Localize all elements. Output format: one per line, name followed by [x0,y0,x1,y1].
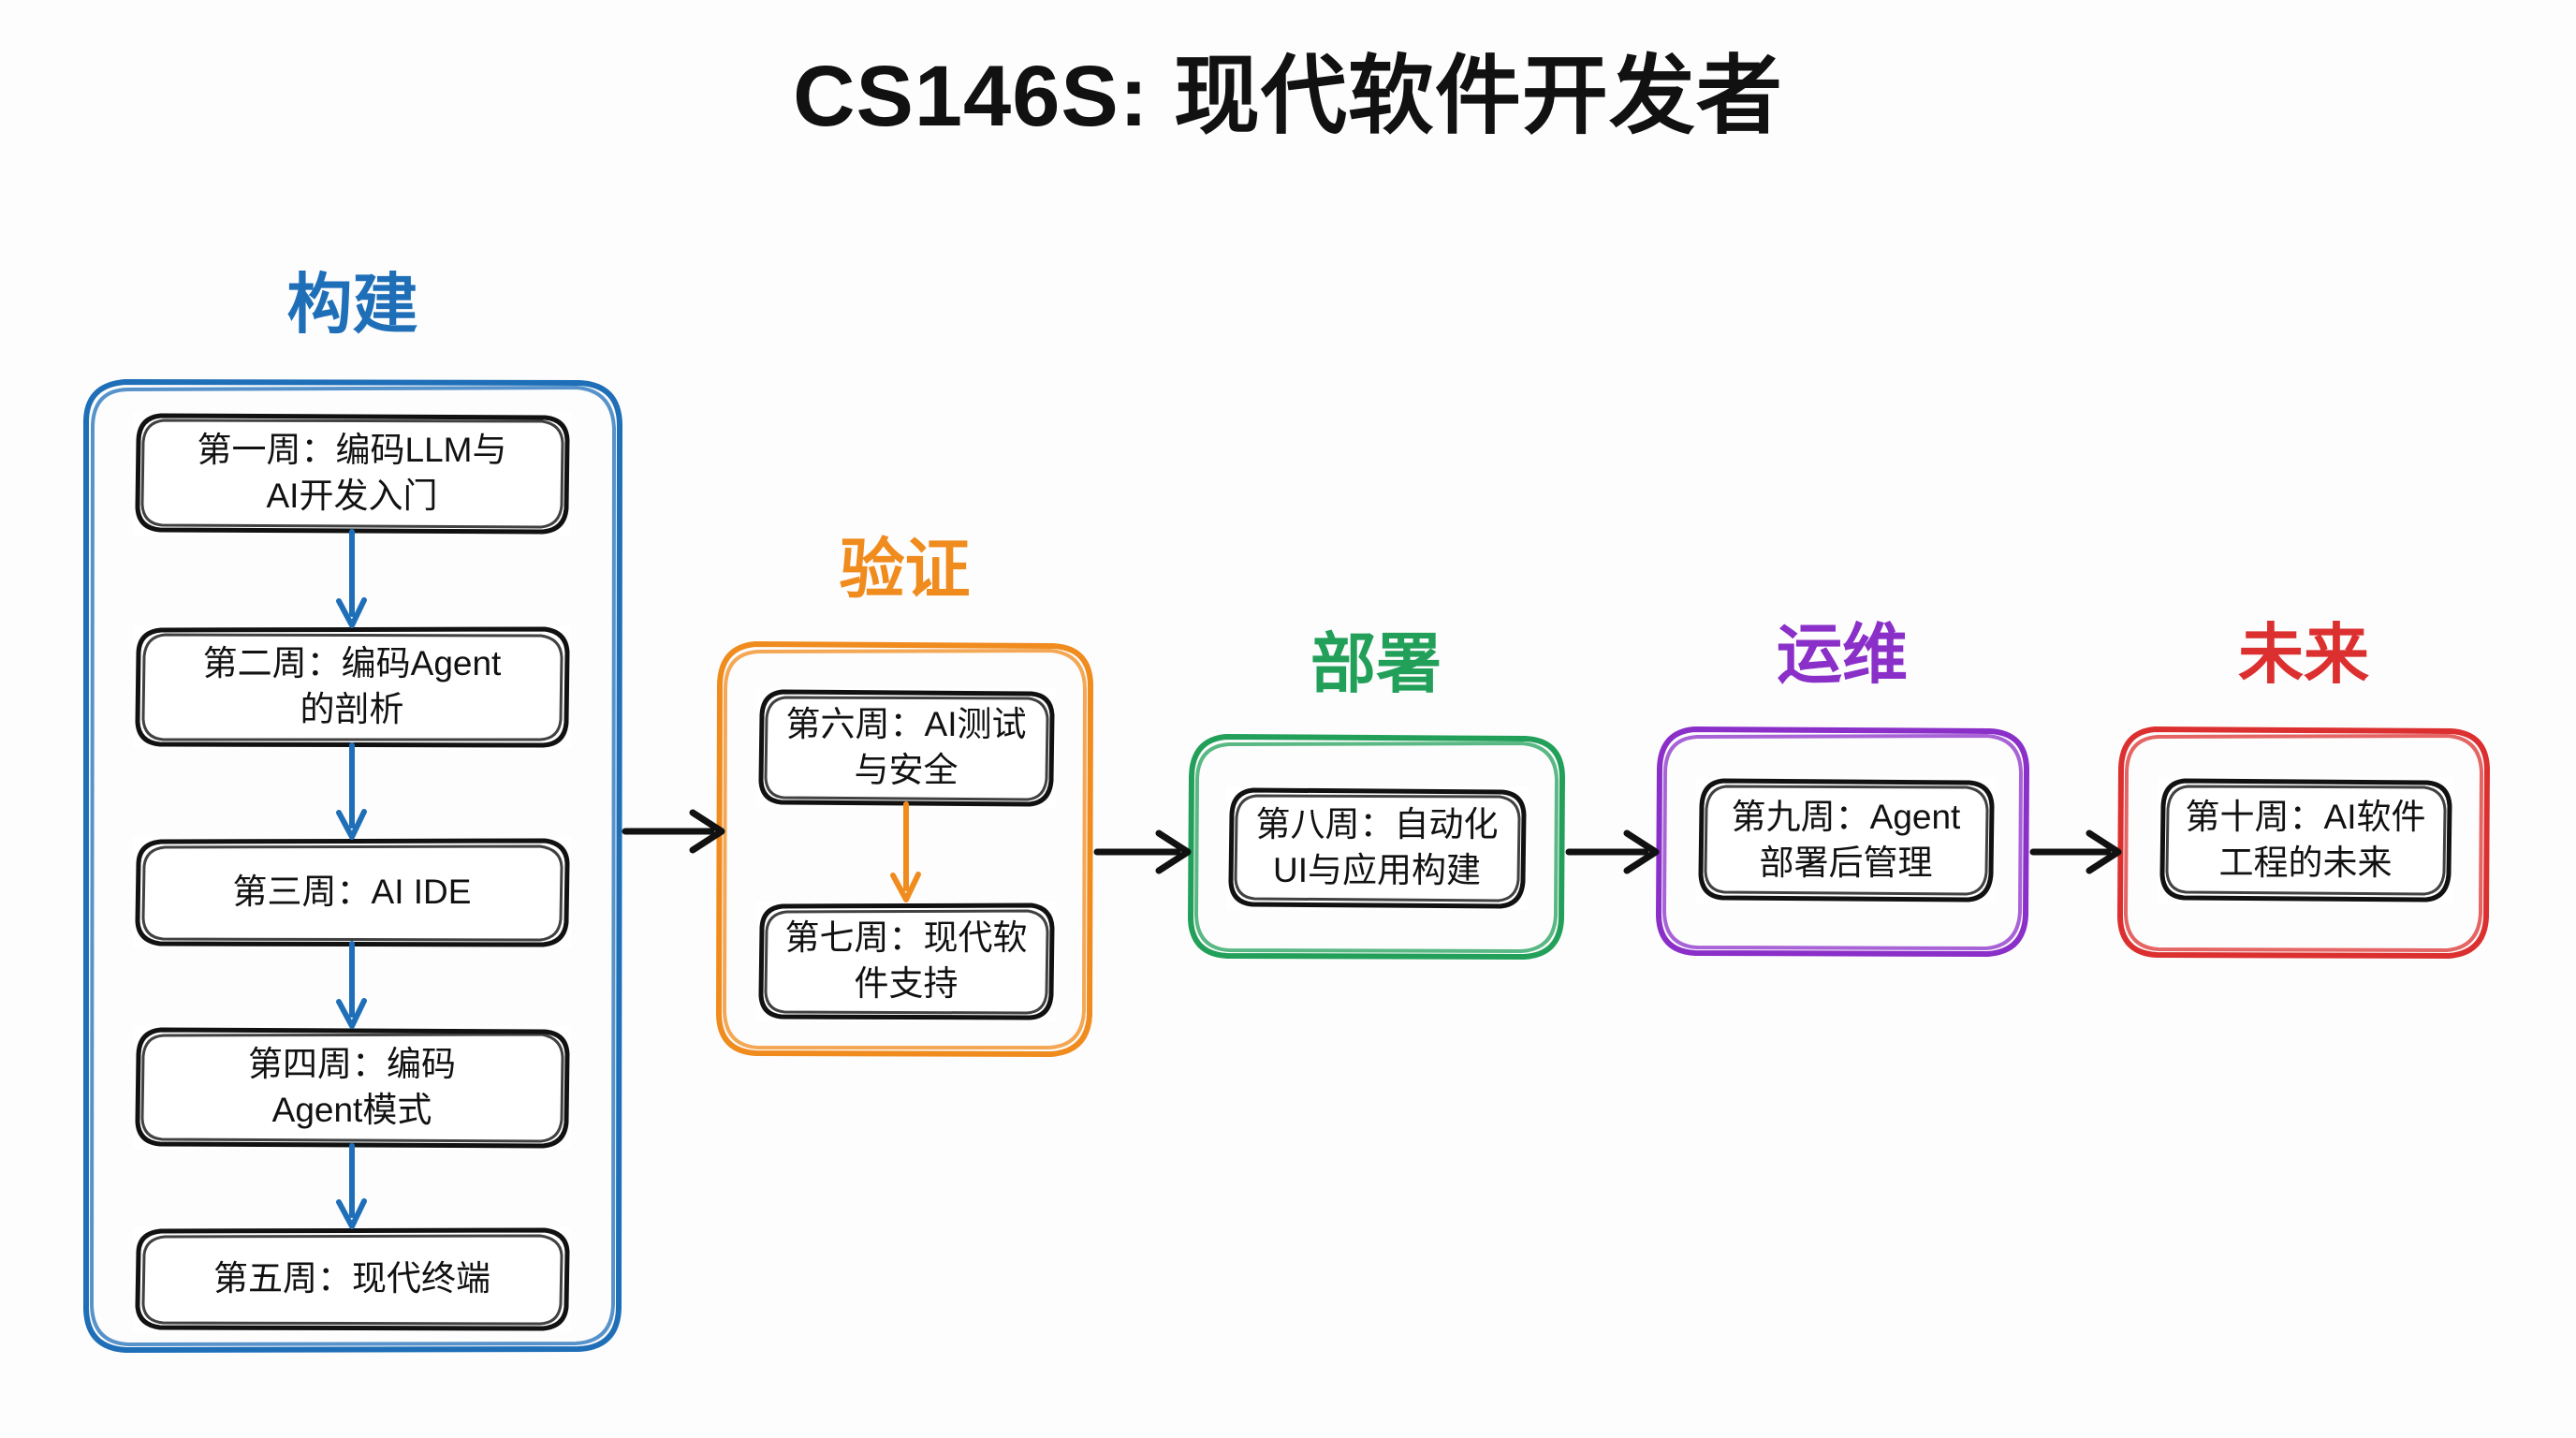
arrow-week2-week3 [333,745,371,843]
node-week-4[interactable]: 第四周：编码 Agent模式 [133,1026,571,1150]
node-week-3[interactable]: 第三周：AI IDE [133,837,571,947]
node-week-5-label: 第五周：现代终端 [213,1256,490,1302]
arrow-build-validate [625,803,724,859]
phase-validate-label: 验证 [716,536,1093,602]
node-week-9[interactable]: 第九周：Agent 部署后管理 [1696,777,1996,903]
node-week-3-label: 第三周：AI IDE [233,870,472,916]
node-week-10-label: 第十周：AI软件 工程的未来 [2186,795,2426,887]
node-week-1[interactable]: 第一周：编码LLM与 AI开发入门 [133,412,571,536]
node-week-10[interactable]: 第十周：AI软件 工程的未来 [2158,777,2453,903]
node-week-6[interactable]: 第六周：AI测试 与安全 [756,688,1056,808]
arrow-operate-future [2033,824,2121,880]
arrow-deploy-operate [1569,824,1659,880]
node-week-6-label: 第六周：AI测试 与安全 [786,702,1027,794]
diagram-canvas: CS146S: 现代软件开发者 构建 第一周：编码LLM与 AI开发入门 第二周… [0,0,2576,1438]
node-week-7-label: 第七周：现代软 件支持 [785,916,1028,1007]
node-week-8-label: 第八周：自动化 UI与应用构建 [1256,802,1499,894]
node-week-1-label: 第一周：编码LLM与 AI开发入门 [198,428,507,520]
arrow-week6-week7 [887,804,925,905]
node-week-9-label: 第九周：Agent 部署后管理 [1732,795,1961,887]
phase-build-label: 构建 [82,271,622,337]
node-week-5[interactable]: 第五周：现代终端 [133,1226,571,1331]
phase-deploy-label: 部署 [1187,631,1565,697]
node-week-2[interactable]: 第二周：编码Agent 的剖析 [133,625,571,749]
arrow-week1-week2 [333,532,371,631]
page-title: CS146S: 现代软件开发者 [0,26,2576,151]
arrow-validate-deploy [1097,824,1191,880]
node-week-4-label: 第四周：编码 Agent模式 [248,1042,456,1134]
node-week-2-label: 第二周：编码Agent 的剖析 [203,641,502,733]
node-week-8[interactable]: 第八周：自动化 UI与应用构建 [1226,786,1528,910]
arrow-week4-week5 [333,1146,371,1232]
phase-future-label: 未来 [2117,622,2490,687]
phase-operate-label: 运维 [1655,622,2029,687]
node-week-7[interactable]: 第七周：现代软 件支持 [756,902,1056,1021]
arrow-week3-week4 [333,944,371,1032]
